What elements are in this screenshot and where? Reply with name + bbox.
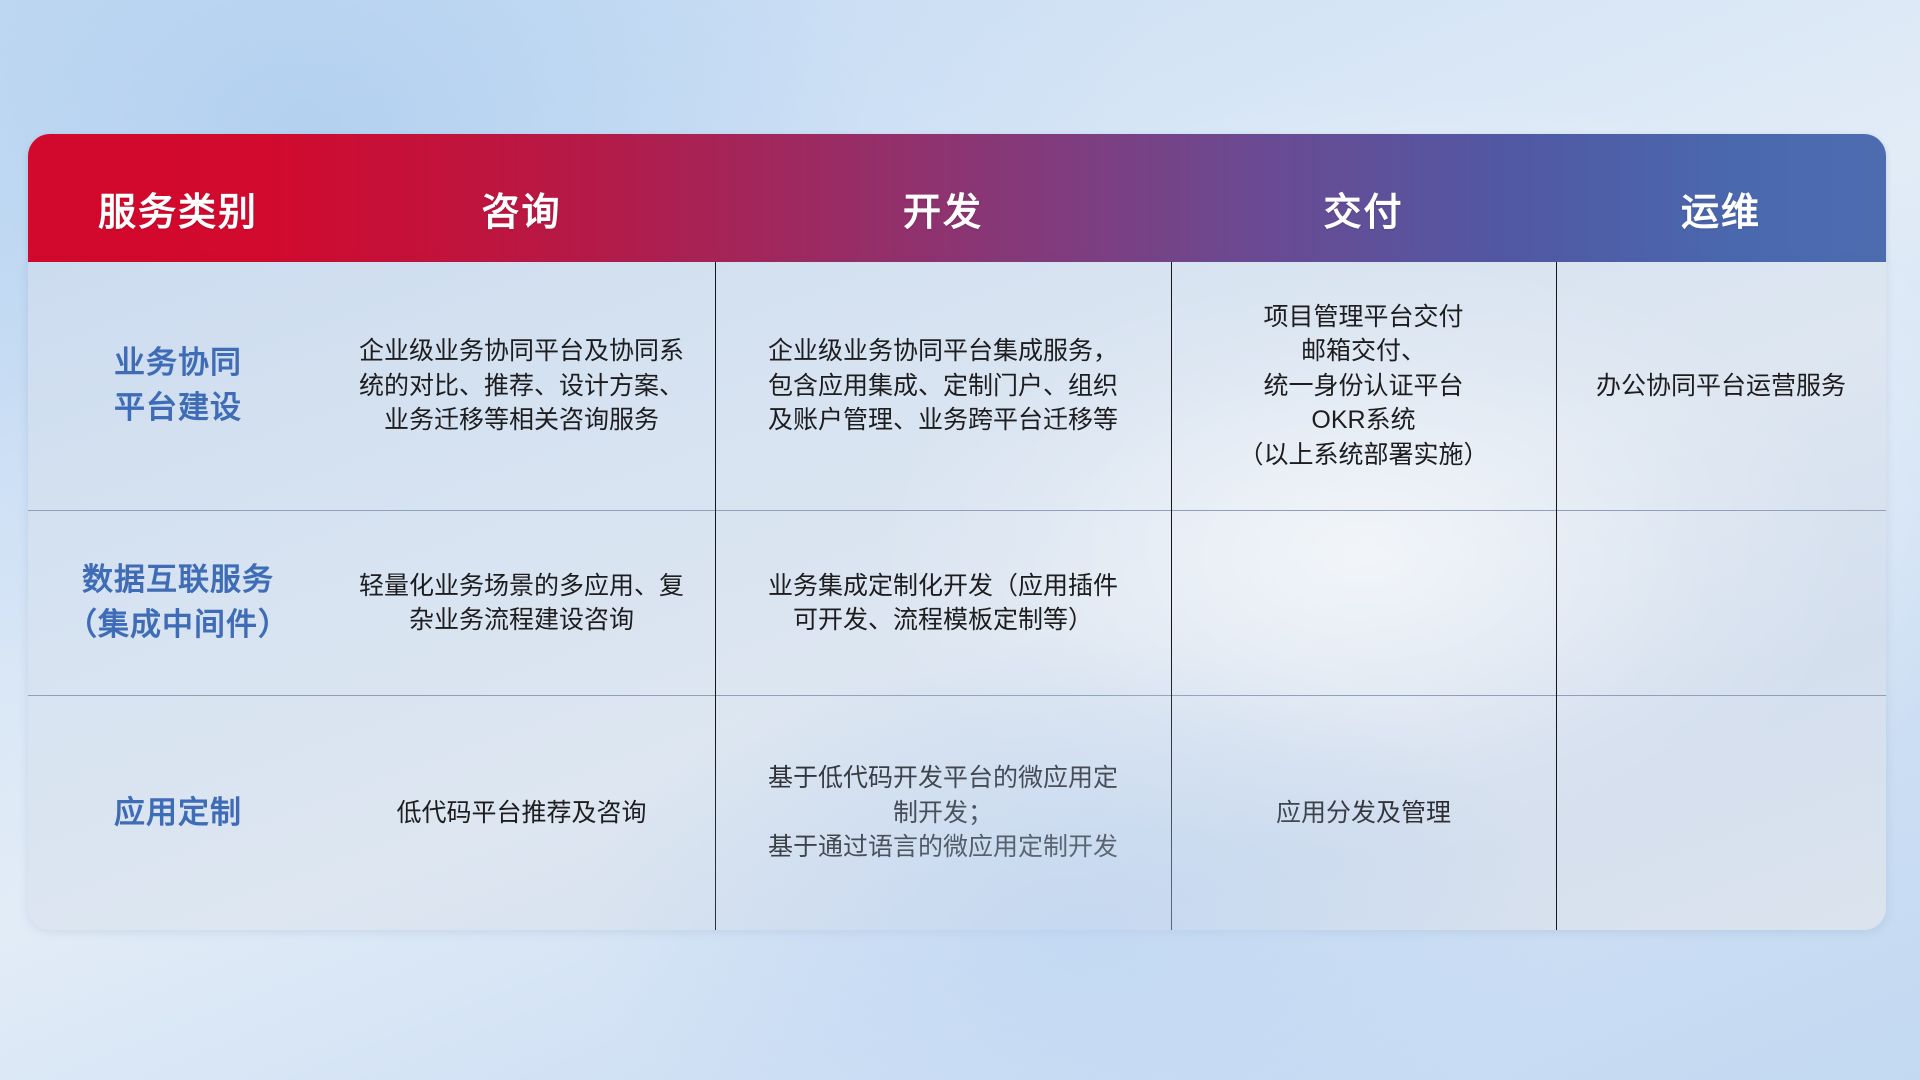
header-operations: 运维 — [1556, 134, 1886, 262]
cell-operations: 办公协同平台运营服务 — [1556, 262, 1886, 510]
row-label-application-customization: 应用定制 — [28, 696, 328, 930]
cell-delivery: 应用分发及管理 — [1171, 696, 1556, 930]
header-development: 开发 — [715, 134, 1171, 262]
cell-development: 业务集成定制化开发（应用插件 可开发、流程模板定制等） — [715, 511, 1171, 695]
service-matrix-table: 服务类别 咨询 开发 交付 运维 业务协同 平台建设 企业级业务协同平台及协同系… — [28, 134, 1886, 930]
cell-consulting: 低代码平台推荐及咨询 — [328, 696, 715, 930]
header-consulting: 咨询 — [328, 134, 715, 262]
cell-operations — [1556, 696, 1886, 930]
cell-consulting: 轻量化业务场景的多应用、复 杂业务流程建设咨询 — [328, 511, 715, 695]
row-label-data-interconnect: 数据互联服务 （集成中间件） — [28, 511, 328, 695]
header-delivery: 交付 — [1171, 134, 1556, 262]
cell-development: 基于低代码开发平台的微应用定 制开发； 基于通过语言的微应用定制开发 — [715, 696, 1171, 930]
header-service-category: 服务类别 — [28, 134, 328, 262]
row-label-business-collaboration: 业务协同 平台建设 — [28, 262, 328, 510]
slide-canvas: 服务类别 咨询 开发 交付 运维 业务协同 平台建设 企业级业务协同平台及协同系… — [0, 0, 1920, 1080]
cell-development: 企业级业务协同平台集成服务， 包含应用集成、定制门户、组织 及账户管理、业务跨平… — [715, 262, 1171, 510]
table-row: 业务协同 平台建设 企业级业务协同平台及协同系 统的对比、推荐、设计方案、 业务… — [28, 262, 1886, 510]
table-body: 业务协同 平台建设 企业级业务协同平台及协同系 统的对比、推荐、设计方案、 业务… — [28, 262, 1886, 930]
cell-consulting: 企业级业务协同平台及协同系 统的对比、推荐、设计方案、 业务迁移等相关咨询服务 — [328, 262, 715, 510]
table-row: 数据互联服务 （集成中间件） 轻量化业务场景的多应用、复 杂业务流程建设咨询 业… — [28, 510, 1886, 695]
cell-delivery: 项目管理平台交付 邮箱交付、 统一身份认证平台 OKR系统 （以上系统部署实施） — [1171, 262, 1556, 510]
table-row: 应用定制 低代码平台推荐及咨询 基于低代码开发平台的微应用定 制开发； 基于通过… — [28, 695, 1886, 930]
cell-operations — [1556, 511, 1886, 695]
cell-delivery — [1171, 511, 1556, 695]
table-header-row: 服务类别 咨询 开发 交付 运维 — [28, 134, 1886, 262]
